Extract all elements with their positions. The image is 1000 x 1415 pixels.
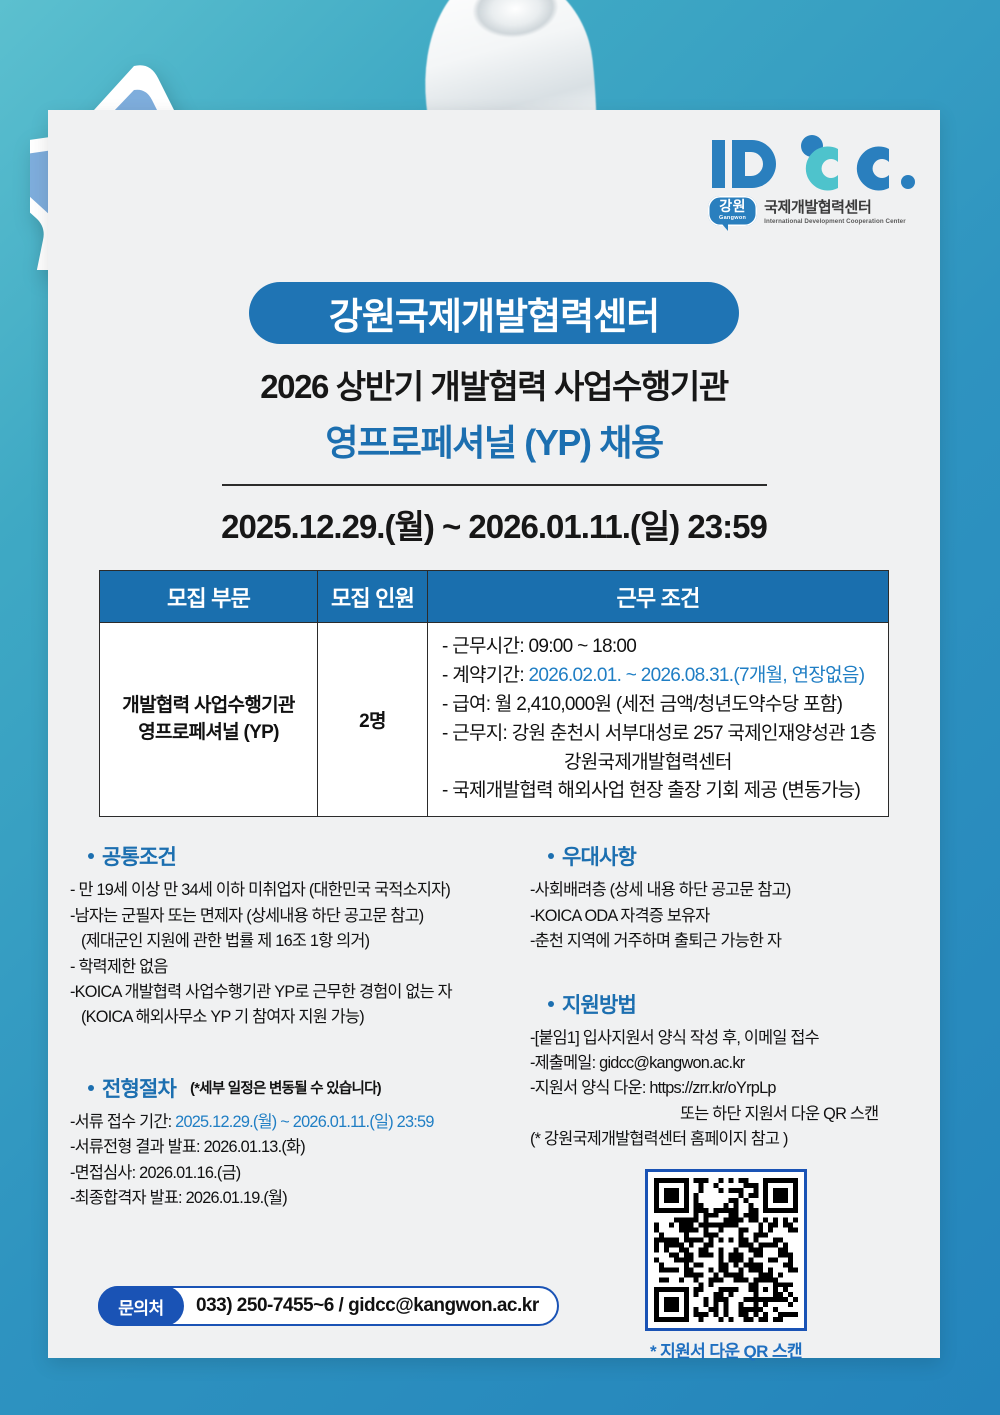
- detail-line: -제출메일: gidcc@kangwon.ac.kr: [530, 1051, 922, 1076]
- bullet-dot-icon: [88, 1085, 94, 1091]
- detail-line: -춘천 지역에 거주하며 출퇴근 가능한 자: [530, 929, 922, 954]
- application-period: 2025.12.29.(월) ~ 2026.01.11.(일) 23:59: [48, 500, 940, 548]
- qr-code[interactable]: [645, 1169, 807, 1331]
- section-body-common: - 만 19세 이상 만 34세 이하 미취업자 (대한민국 국적소지자)-남자…: [70, 878, 518, 1031]
- spacer: [530, 955, 922, 989]
- contact-bar: 문의처 033) 250-7455~6 / gidcc@kangwon.ac.k…: [98, 1286, 559, 1326]
- cell-headcount: 2명: [318, 623, 428, 817]
- section-note-process: (*세부 일정은 변동될 수 있습니다): [190, 1077, 381, 1098]
- position-line-1: 개발협력 사업수행기관: [106, 693, 311, 720]
- heading-line-1: 2026 상반기 개발협력 사업수행기관: [48, 360, 940, 408]
- detail-line: -최종합격자 발표: 2026.01.19.(월): [70, 1186, 518, 1211]
- contact-value: 033) 250-7455~6 / gidcc@kangwon.ac.kr: [196, 1295, 539, 1317]
- condition-item: 강원국제개발협력센터: [442, 749, 880, 778]
- gangwon-badge-kr: 강원: [719, 198, 746, 214]
- heading-line-2: 영프로페셔널 (YP) 채용: [48, 414, 940, 466]
- detail-line: 또는 하단 지원서 다운 QR 스캔: [530, 1102, 922, 1127]
- contact-badge-label: 문의처: [98, 1286, 184, 1326]
- qr-area: * 지원서 다운 QR 스캔: [530, 1169, 922, 1362]
- left-column: 공통조건 - 만 19세 이상 만 34세 이하 미취업자 (대한민국 국적소지…: [70, 841, 518, 1361]
- section-title-process: 전형절차 (*세부 일정은 변동될 수 있습니다): [88, 1073, 518, 1103]
- poster-root: { "brand": { "logo_wordmark": "IDCC", "b…: [0, 0, 1000, 1415]
- condition-item: - 근무지: 강원 춘천시 서부대성로 257 국제인재양성관 1층: [442, 720, 880, 749]
- condition-item: - 계약기간: 2026.02.01. ~ 2026.08.31.(7개월, 연…: [442, 662, 880, 691]
- detail-line: -면접심사: 2026.01.16.(금): [70, 1161, 518, 1186]
- divider-rule: [222, 484, 767, 486]
- condition-item: - 급여: 월 2,410,000원 (세전 금액/청년도약수당 포함): [442, 691, 880, 720]
- th-position: 모집 부문: [100, 571, 318, 623]
- detail-line: (제대군인 지원에 관한 법률 제 16조 1항 의거): [70, 929, 518, 954]
- condition-item: - 근무시간: 09:00 ~ 18:00: [442, 633, 880, 662]
- detail-line: -사회배려층 (상세 내용 하단 공고문 참고): [530, 878, 922, 903]
- detail-line: -남자는 군필자 또는 면제자 (상세내용 하단 공고문 참고): [70, 904, 518, 929]
- conditions-list: - 근무시간: 09:00 ~ 18:00- 계약기간: 2026.02.01.…: [442, 633, 880, 806]
- detail-line: -[붙임1] 입사지원서 양식 작성 후, 이메일 접수: [530, 1026, 922, 1051]
- detail-line: - 만 19세 이상 만 34세 이하 미취업자 (대한민국 국적소지자): [70, 878, 518, 903]
- condition-item: - 국제개발협력 해외사업 현장 출장 기회 제공 (변동가능): [442, 777, 880, 806]
- position-line-2: 영프로페셔널 (YP): [106, 720, 311, 747]
- cell-position: 개발협력 사업수행기관 영프로페셔널 (YP): [100, 623, 318, 817]
- details-columns: 공통조건 - 만 19세 이상 만 34세 이하 미취업자 (대한민국 국적소지…: [48, 841, 940, 1361]
- detail-line: -KOICA 개발협력 사업수행기관 YP로 근무한 경험이 없는 자: [70, 980, 518, 1005]
- section-title-howto-label: 지원방법: [562, 989, 636, 1019]
- qr-code-icon: [654, 1178, 798, 1322]
- poster-card: 강원 Gangwon 국제개발협력센터 International Develo…: [48, 110, 940, 1358]
- right-column: 우대사항 -사회배려층 (상세 내용 하단 공고문 참고)-KOICA ODA …: [518, 841, 922, 1361]
- section-title-preferred: 우대사항: [548, 841, 922, 871]
- detail-highlight: 2025.12.29.(월) ~ 2026.01.11.(일) 23:59: [175, 1113, 434, 1131]
- section-title-howto: 지원방법: [548, 989, 922, 1019]
- section-body-preferred: -사회배려층 (상세 내용 하단 공고문 참고)-KOICA ODA 자격증 보…: [530, 878, 922, 954]
- condition-highlight: 2026.02.01. ~ 2026.08.31.(7개월, 연장없음): [528, 665, 864, 686]
- gangwon-badge: 강원 Gangwon: [708, 196, 757, 226]
- detail-line: -서류전형 결과 발표: 2026.01.13.(화): [70, 1135, 518, 1160]
- th-headcount: 모집 인원: [318, 571, 428, 623]
- idcc-wordmark-icon: [708, 132, 918, 194]
- detail-line: -지원서 양식 다운: https://zrr.kr/oYrpLp: [530, 1076, 922, 1101]
- recruitment-table: 모집 부문 모집 인원 근무 조건 개발협력 사업수행기관 영프로페셔널 (YP…: [99, 570, 889, 817]
- bullet-dot-icon: [548, 853, 554, 859]
- table-row: 개발협력 사업수행기관 영프로페셔널 (YP) 2명 - 근무시간: 09:00…: [100, 623, 889, 817]
- spacer: [70, 1031, 518, 1073]
- org-name-en: International Development Cooperation Ce…: [764, 218, 906, 225]
- section-body-process: -서류 접수 기간: 2025.12.29.(월) ~ 2026.01.11.(…: [70, 1110, 518, 1212]
- detail-line: (* 강원국제개발협력센터 홈페이지 참고 ): [530, 1127, 922, 1152]
- idcc-logo: 강원 Gangwon 국제개발협력센터 International Develo…: [708, 132, 918, 226]
- detail-line: -서류 접수 기간: 2025.12.29.(월) ~ 2026.01.11.(…: [70, 1110, 518, 1135]
- section-title-process-label: 전형절차: [102, 1073, 176, 1103]
- section-title-common-label: 공통조건: [102, 841, 176, 871]
- bullet-dot-icon: [88, 853, 94, 859]
- table-header-row: 모집 부문 모집 인원 근무 조건: [100, 571, 889, 623]
- qr-caption: * 지원서 다운 QR 스캔: [650, 1337, 802, 1362]
- cell-conditions: - 근무시간: 09:00 ~ 18:00- 계약기간: 2026.02.01.…: [428, 623, 889, 817]
- detail-line: -KOICA ODA 자격증 보유자: [530, 904, 922, 929]
- center-name-pill: 강원국제개발협력센터: [249, 282, 739, 344]
- bullet-dot-icon: [548, 1001, 554, 1007]
- section-body-howto: -[붙임1] 입사지원서 양식 작성 후, 이메일 접수-제출메일: gidcc…: [530, 1026, 922, 1153]
- detail-line: - 학력제한 없음: [70, 955, 518, 980]
- section-title-common: 공통조건: [88, 841, 518, 871]
- detail-line: (KOICA 해외사무소 YP 기 참여자 지원 가능): [70, 1005, 518, 1030]
- gangwon-badge-en: Gangwon: [719, 216, 746, 222]
- th-conditions: 근무 조건: [428, 571, 889, 623]
- section-title-preferred-label: 우대사항: [562, 841, 636, 871]
- org-name-kr: 국제개발협력센터: [764, 196, 906, 217]
